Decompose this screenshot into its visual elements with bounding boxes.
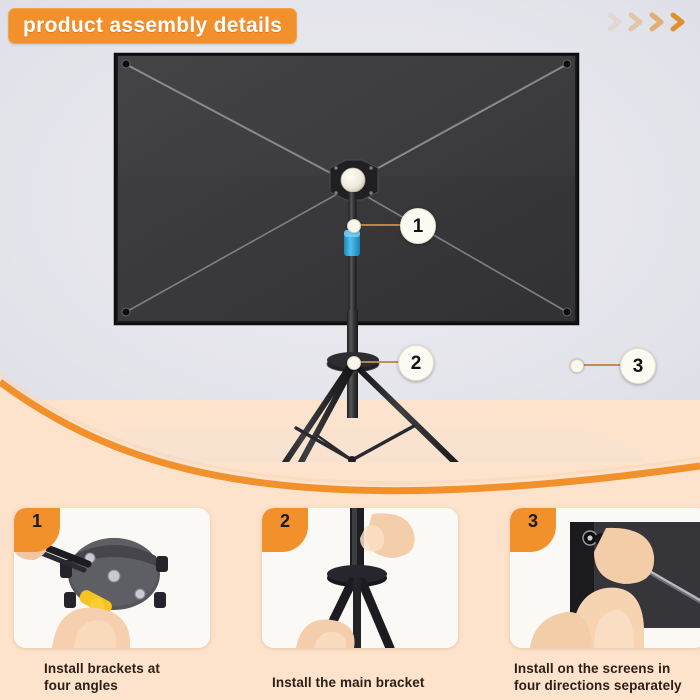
step-caption-3: Install on the screens in four direction…	[514, 660, 700, 695]
callout-marker-1[interactable]: 1	[400, 208, 436, 244]
chevron-right-icon	[652, 15, 661, 29]
chevron-group	[606, 8, 692, 36]
step-caption-3-line2: four directions separately	[514, 677, 700, 694]
callout-label-2: 2	[411, 354, 422, 373]
callout-anchor-1	[347, 219, 361, 233]
step-caption-1-line1: Install brackets at	[44, 660, 254, 677]
callout-label-1: 1	[413, 217, 424, 236]
clamp-collar	[344, 230, 360, 256]
callout-marker-3[interactable]: 3	[620, 348, 656, 384]
step-caption-1: Install brackets at four angles	[44, 660, 254, 695]
step-panel-3[interactable]: 3	[510, 508, 700, 648]
page-title: product assembly details	[23, 14, 282, 38]
callout-marker-2[interactable]: 2	[398, 345, 434, 381]
callout-anchor-2	[347, 356, 361, 370]
step-number-2: 2	[280, 512, 290, 530]
step-caption-3-line1: Install on the screens in	[514, 660, 700, 677]
chevron-right-icon	[631, 15, 640, 29]
step-caption-2-line1: Install the main bracket	[272, 674, 482, 691]
callout-anchor-3	[570, 359, 584, 373]
step-number-3: 3	[528, 512, 538, 530]
step-caption-2: Install the main bracket	[272, 674, 482, 691]
wave-divider	[0, 370, 700, 530]
chevron-right-icon	[610, 15, 619, 29]
step-caption-1-line2: four angles	[44, 677, 254, 694]
infographic-root: 1 2 3 product assembly details	[0, 0, 700, 700]
step-panel-2[interactable]: 2	[262, 508, 458, 648]
chevron-right-icon	[673, 15, 682, 29]
callout-label-3: 3	[633, 357, 644, 376]
step-number-1: 1	[32, 512, 42, 530]
page-title-banner: product assembly details	[8, 8, 297, 44]
step-panel-1[interactable]: 1	[14, 508, 210, 648]
